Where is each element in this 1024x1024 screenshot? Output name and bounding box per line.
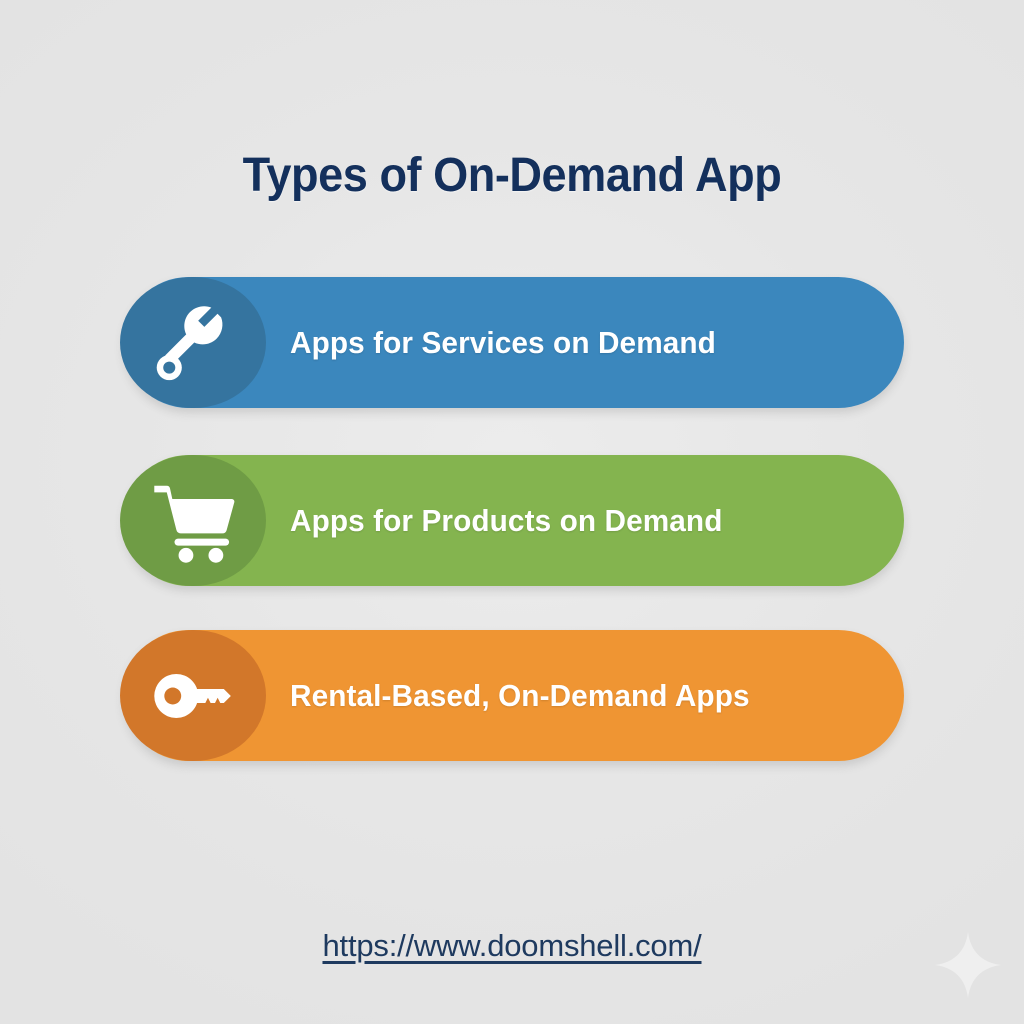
item-icon-badge-rental bbox=[120, 630, 266, 761]
list-item[interactable]: Apps for Services on Demand bbox=[123, 277, 904, 408]
shopping-cart-icon bbox=[149, 477, 237, 565]
item-label-services: Apps for Services on Demand bbox=[290, 277, 716, 408]
key-icon bbox=[149, 652, 237, 740]
infographic-canvas: Types of On-Demand App Apps for Services… bbox=[0, 0, 1024, 1024]
list-item[interactable]: Apps for Products on Demand bbox=[123, 455, 904, 586]
item-label-products: Apps for Products on Demand bbox=[290, 455, 722, 586]
item-list: Apps for Services on Demand App bbox=[0, 0, 1024, 1024]
list-item[interactable]: Rental-Based, On-Demand Apps bbox=[123, 630, 904, 761]
item-icon-badge-services bbox=[120, 277, 266, 408]
footer-website-link[interactable]: https://www.doomshell.com/ bbox=[0, 928, 1024, 964]
sparkle-decoration-icon bbox=[934, 931, 1002, 999]
item-icon-badge-products bbox=[120, 455, 266, 586]
item-label-rental: Rental-Based, On-Demand Apps bbox=[290, 630, 750, 761]
wrench-icon bbox=[150, 300, 236, 386]
